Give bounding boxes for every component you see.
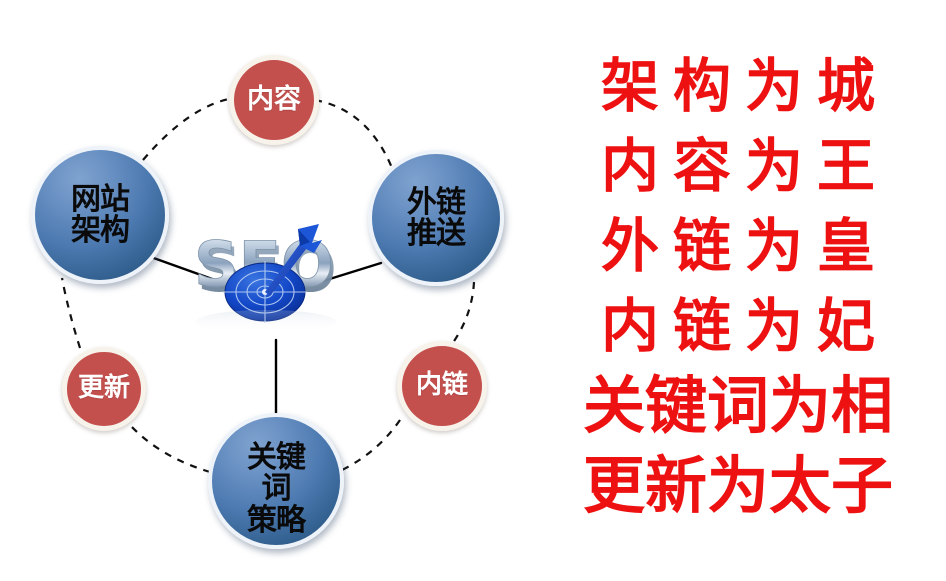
- node-keyword-line2: 词: [262, 471, 291, 506]
- node-outbound-link-label: 外链 推送: [407, 187, 465, 249]
- slogan-panel: 架构为城 内容为王 外链为皇 内链为妃 关键词为相 更新为太子: [530, 0, 946, 581]
- slogan-line-1: 架构为城: [530, 46, 946, 126]
- slogan-line-2: 内容为王: [530, 126, 946, 206]
- logo-reflection: [196, 310, 336, 334]
- slogan-line-4: 内链为妃: [530, 286, 946, 366]
- node-outlink-line1: 外链: [407, 185, 465, 220]
- slogan-line-5: 关键词为相: [530, 366, 946, 446]
- node-update-label: 更新: [78, 375, 130, 402]
- node-internal-link[interactable]: 内链: [397, 341, 487, 431]
- arc-content-outlink: [315, 100, 392, 168]
- arc-update-structure: [62, 278, 80, 348]
- arc-structure-content: [143, 98, 234, 160]
- node-update[interactable]: 更新: [62, 347, 146, 431]
- node-internal-link-label: 内链: [416, 372, 468, 399]
- slide-canvas: SEO SEO: [0, 0, 946, 581]
- slogan-line-3: 外链为皇: [530, 206, 946, 286]
- node-keyword-strategy-label: 关键 词 策略: [247, 442, 305, 536]
- seo-cycle-diagram: SEO SEO: [0, 0, 530, 581]
- node-keyword-line3: 策略: [247, 503, 305, 538]
- node-keyword-strategy[interactable]: 关键 词 策略: [208, 413, 344, 549]
- node-outbound-link[interactable]: 外链 推送: [368, 150, 504, 286]
- node-content[interactable]: 内容: [229, 55, 319, 145]
- arc-outlink-innerlink: [452, 282, 474, 344]
- arc-keyword-update: [130, 425, 210, 472]
- slogan-line-6: 更新为太子: [530, 446, 946, 526]
- node-content-label: 内容: [247, 86, 301, 114]
- seo-logo: SEO SEO: [186, 212, 354, 337]
- node-website-structure-label: 网站 架构: [71, 184, 129, 246]
- node-website-structure[interactable]: 网站 架构: [31, 146, 169, 284]
- node-keyword-line1: 关键: [247, 440, 305, 475]
- node-structure-line1: 网站: [71, 182, 129, 217]
- node-outlink-line2: 推送: [407, 216, 465, 251]
- node-structure-line2: 架构: [71, 213, 129, 248]
- arc-innerlink-keyword: [342, 420, 400, 470]
